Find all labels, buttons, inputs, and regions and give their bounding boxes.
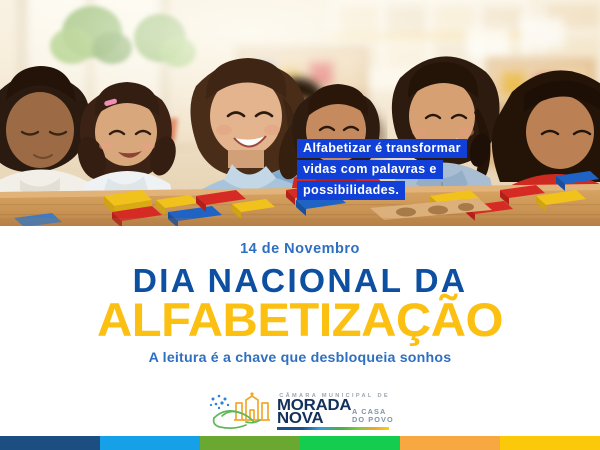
color-segment-6 [500, 436, 600, 450]
tagline: A leitura é a chave que desbloqueia sonh… [0, 350, 600, 366]
event-date: 14 de Novembro [0, 241, 600, 257]
color-segment-1 [0, 436, 100, 450]
color-segment-2 [100, 436, 200, 450]
institution-logo: CÂMARA MUNICIPAL DE MORADA NOVA A CASA D… [0, 388, 600, 434]
logo-wordmark: CÂMARA MUNICIPAL DE MORADA NOVA A CASA D… [277, 392, 394, 429]
footer-color-bar [0, 436, 600, 450]
quote-line-2: vidas com palavras e [297, 160, 443, 179]
logo-gradient-bar [277, 427, 389, 430]
quote-overlay: Alfabetizar é transformar vidas com pala… [297, 139, 529, 200]
poster-root: Alfabetizar é transformar vidas com pala… [0, 0, 600, 450]
color-segment-5 [400, 436, 500, 450]
title-line-2: ALFABETIZAÇÃO [0, 296, 600, 344]
color-segment-3 [200, 436, 300, 450]
logo-name-line-2: NOVA [277, 413, 351, 426]
quote-line-3: possibilidades. [297, 181, 405, 200]
logo-slogan-line-2: DO POVO [352, 416, 394, 424]
camara-emblem-icon [206, 390, 272, 432]
color-segment-4 [300, 436, 400, 450]
quote-line-1: Alfabetizar é transformar [297, 139, 467, 158]
